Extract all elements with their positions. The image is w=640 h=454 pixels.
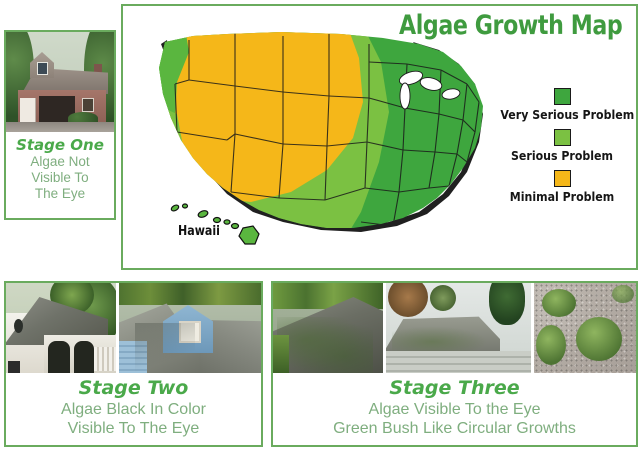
photo-white-shed-dark-roof [6, 283, 116, 373]
algae-moss-patches [392, 325, 492, 353]
stage-three-photo-row [273, 283, 636, 373]
moss-growth-2 [576, 317, 622, 361]
stage-three-title: Stage Three [275, 378, 634, 399]
stage-one-photo-row [6, 32, 114, 132]
stage-one-title: Stage One [8, 137, 112, 154]
stage-two-caption: Stage Two Algae Black In Color Visible T… [6, 373, 261, 439]
stage-three-panel: Stage Three Algae Visible To the Eye Gre… [271, 281, 638, 447]
stage-two-panel: Stage Two Algae Black In Color Visible T… [4, 281, 263, 447]
stage-one-line-3: The Eye [8, 186, 112, 202]
stage-two-photo-row [6, 283, 261, 373]
gable-vent [14, 319, 23, 333]
trash-can [8, 361, 20, 373]
driveway [6, 122, 114, 132]
stage-two-line-1: Algae Black In Color [8, 400, 259, 419]
house-window [82, 98, 94, 112]
stage-one-line-1: Algae Not [8, 154, 112, 170]
photo-circular-green-growths [534, 283, 636, 373]
moss-growth-1 [542, 289, 576, 317]
garage-door-small [20, 98, 36, 122]
legend-swatch-minimal [554, 170, 571, 187]
legend-swatch-serious [554, 129, 571, 146]
algae-growth-map-panel: Algae Growth Map [121, 4, 638, 270]
stage-one-line-2: Visible To [8, 170, 112, 186]
legend-item-minimal: Minimal Problem [492, 170, 632, 204]
tree-line [119, 283, 261, 305]
stage-one-caption: Stage One Algae Not Visible To The Eye [6, 132, 114, 202]
legend-label-serious: Serious Problem [500, 148, 623, 163]
stage-three-line-2: Green Bush Like Circular Growths [275, 419, 634, 438]
tree-mid [430, 285, 456, 311]
photo-mossy-dark-roof [273, 283, 383, 373]
fence [94, 347, 116, 371]
shed-door-right [74, 341, 94, 373]
us-map-graphic: Hawaii [131, 22, 491, 262]
stage-three-caption: Stage Three Algae Visible To the Eye Gre… [273, 373, 636, 439]
house-siding [386, 351, 531, 373]
algae-moss-patches [277, 317, 373, 373]
moss-growth-4 [612, 285, 634, 303]
photo-blue-dormer-streaked-roof [119, 283, 261, 373]
stage-one-panel: Stage One Algae Not Visible To The Eye [4, 30, 116, 220]
stage-three-line-1: Algae Visible To the Eye [275, 400, 634, 419]
foreground-grass [273, 335, 289, 373]
legend-swatch-very-serious [554, 88, 571, 105]
legend-label-minimal: Minimal Problem [500, 189, 623, 204]
photo-roof-with-trees [386, 283, 531, 373]
hawaii-label: Hawaii [178, 224, 220, 239]
moss-growth-3 [536, 325, 566, 365]
photo-brick-house-with-garage [6, 32, 114, 132]
stage-two-line-2: Visible To The Eye [8, 419, 259, 438]
tree-pine [489, 283, 525, 325]
dormer-window [37, 62, 48, 75]
legend-label-very-serious: Very Serious Problem [500, 107, 623, 122]
legend-item-very-serious: Very Serious Problem [492, 88, 632, 122]
shed-door-left [48, 341, 70, 373]
stage-two-title: Stage Two [8, 378, 259, 399]
map-legend: Very Serious Problem Serious Problem Min… [492, 88, 632, 211]
legend-item-serious: Serious Problem [492, 129, 632, 163]
algae-streaks [135, 323, 195, 373]
